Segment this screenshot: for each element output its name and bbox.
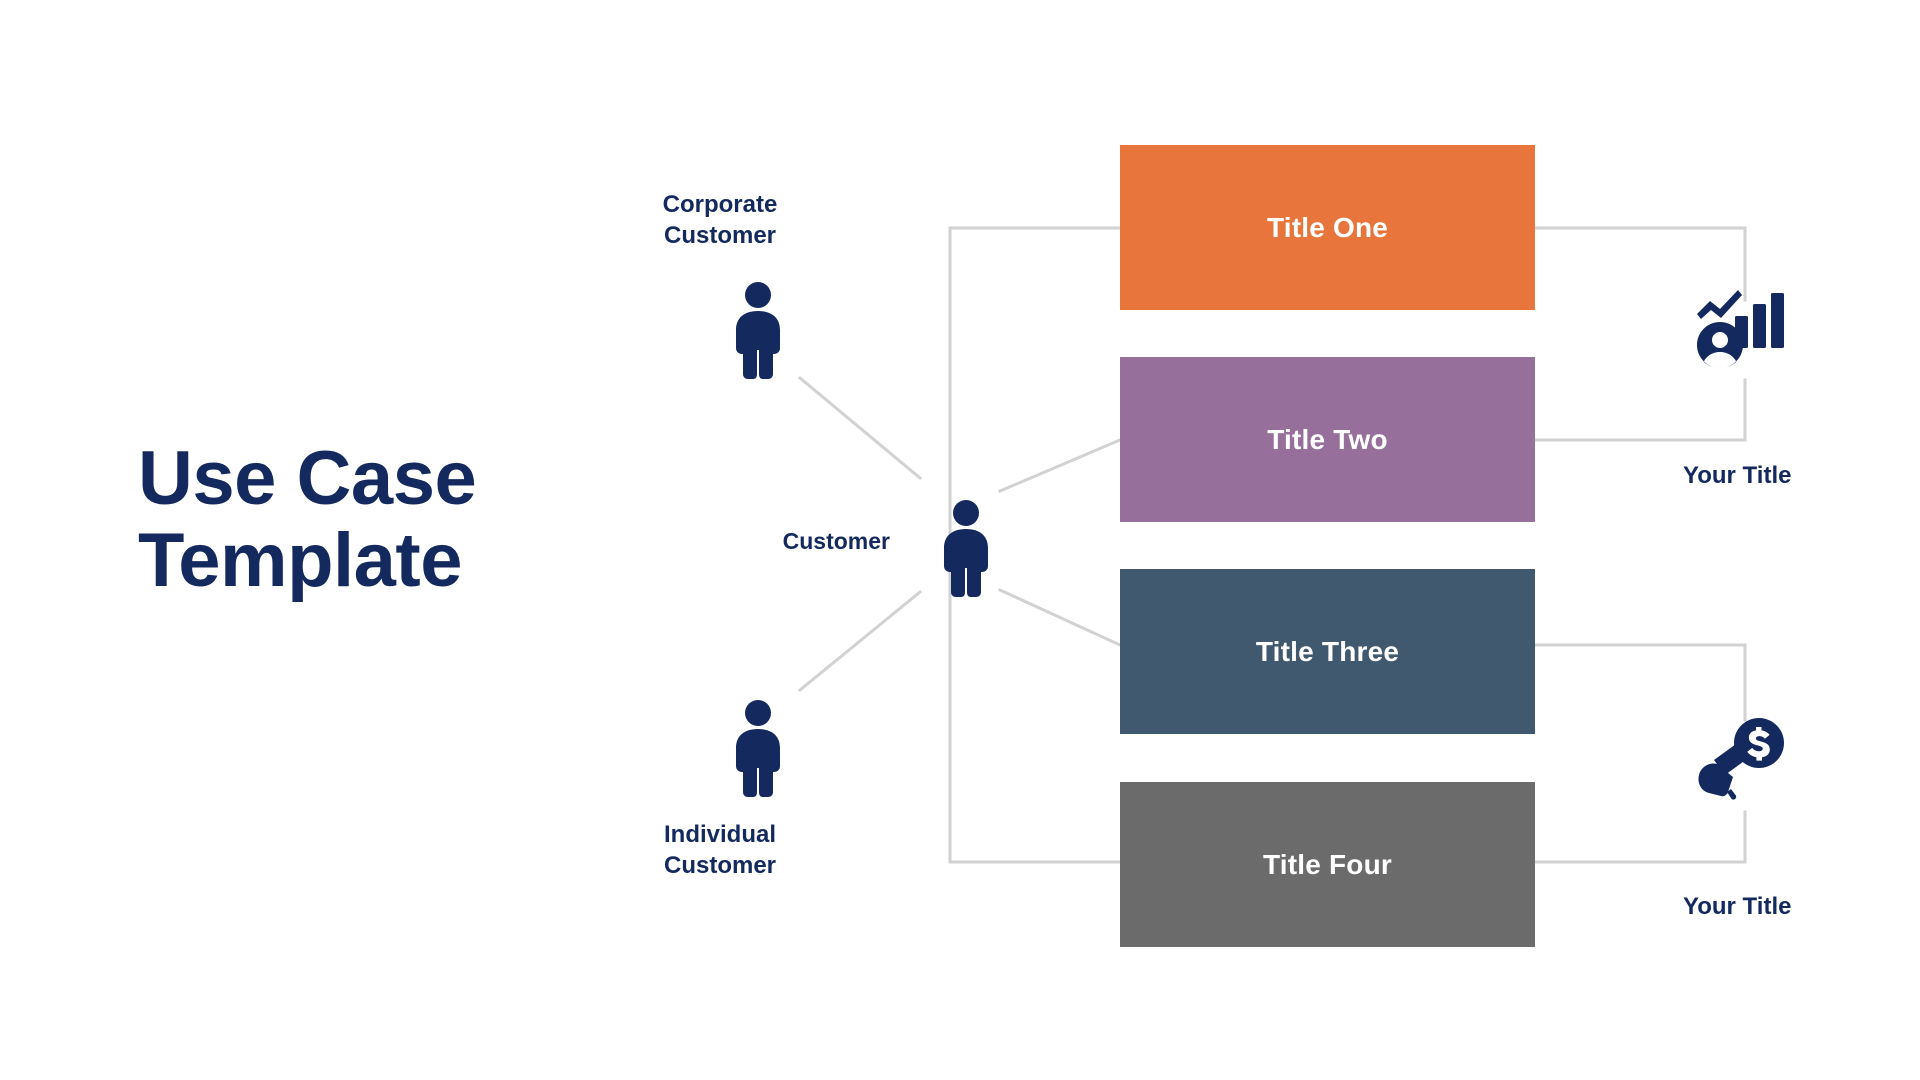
connector-title-four-to-outcome-two xyxy=(1535,812,1745,862)
title-bar-two-label: Title Two xyxy=(1267,424,1388,456)
title-bar-three[interactable]: Title Three xyxy=(1120,569,1535,734)
title-bar-one[interactable]: Title One xyxy=(1120,145,1535,310)
title-bar-three-label: Title Three xyxy=(1256,636,1399,668)
actor-label-corporate-line-2: Customer xyxy=(664,222,776,249)
connector-corporate-to-center xyxy=(800,378,920,478)
person-icon-individual-customer xyxy=(727,700,789,798)
title-bar-four[interactable]: Title Four xyxy=(1120,782,1535,947)
analytics-user-chart-icon xyxy=(1694,286,1786,368)
title-bar-two[interactable]: Title Two xyxy=(1120,357,1535,522)
outcome-label-two: Your Title xyxy=(1683,893,1791,921)
actor-label-individual-line-2: Customer xyxy=(664,852,776,879)
page-title: Use Case Template xyxy=(138,438,608,602)
connector-center-to-title-three xyxy=(1000,590,1120,645)
actor-label-individual-customer: Individual Customer xyxy=(620,820,820,881)
title-bar-four-label: Title Four xyxy=(1263,849,1392,881)
person-icon-corporate-customer xyxy=(727,282,789,380)
person-icon-customer xyxy=(935,500,997,598)
connector-title-two-to-outcome-one xyxy=(1535,380,1745,440)
page-title-line-1: Use Case xyxy=(138,438,608,520)
page-title-line-2: Template xyxy=(138,520,608,602)
outcome-label-one: Your Title xyxy=(1683,462,1791,490)
connector-individual-to-center xyxy=(800,592,920,690)
actor-label-corporate-customer: Corporate Customer xyxy=(620,190,820,251)
title-bar-one-label: Title One xyxy=(1267,212,1388,244)
connector-title-three-to-outcome-two xyxy=(1535,645,1745,720)
megaphone-dollar-icon xyxy=(1697,718,1785,800)
actor-label-corporate-line-1: Corporate xyxy=(663,191,778,218)
slide-canvas: Use Case Template xyxy=(0,0,1920,1080)
actor-label-individual-line-1: Individual xyxy=(664,821,776,848)
connector-center-to-title-two xyxy=(1000,440,1120,491)
actor-label-customer: Customer xyxy=(700,527,890,556)
